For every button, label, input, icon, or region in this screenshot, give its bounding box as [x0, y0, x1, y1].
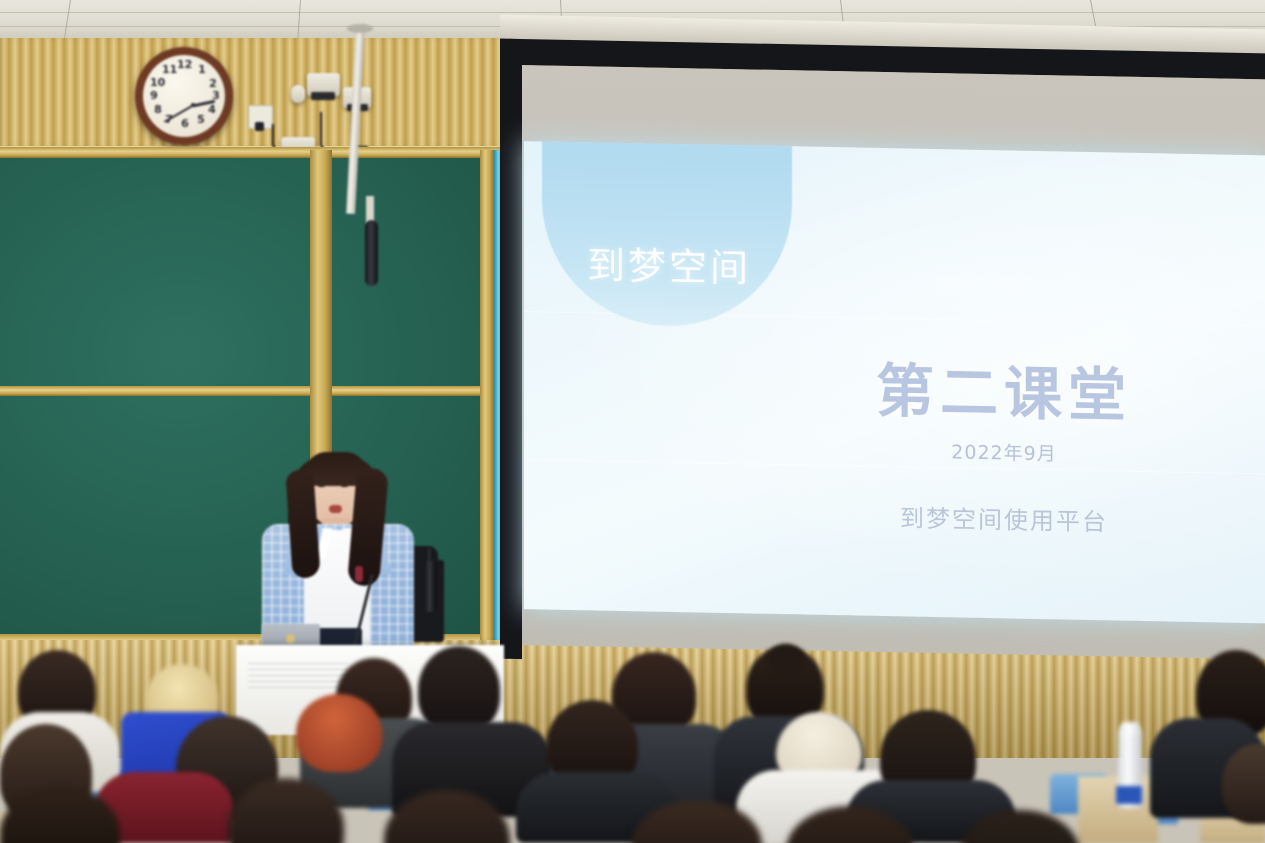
- water-bottle-cap: [1120, 722, 1140, 736]
- audience-hair-bun: [768, 644, 804, 674]
- clock-numeral: 10: [150, 76, 164, 90]
- clock-numeral: 5: [194, 113, 208, 127]
- presenter-mouth: [329, 505, 342, 513]
- clock-numeral: 12: [177, 58, 191, 72]
- chalkboard-frame-mid: [0, 386, 516, 396]
- boom-pole-collar: [347, 24, 373, 33]
- clock-numeral: 9: [147, 89, 161, 103]
- slide-watermark: 到梦空间: [924, 267, 1044, 301]
- wall-clock: 12 1 2 3 4 5 6 7 8 9 10 11: [135, 47, 233, 145]
- screen-left-border: [500, 39, 522, 659]
- brand-logo-text: 到梦空间: [562, 234, 776, 293]
- chalkboard-frame-top: [0, 147, 516, 158]
- laptop-emblem: [286, 634, 295, 644]
- cable: [320, 112, 340, 152]
- wall-bracket: [291, 85, 305, 103]
- audience-head-red: [296, 694, 382, 772]
- wall-socket: [255, 122, 264, 131]
- clock-center-pin: [191, 103, 195, 107]
- desk-microphone-head: [355, 566, 363, 582]
- projection-screen: 到梦空间 到梦空间 第二课堂 2022年9月 到梦空间使用平台: [500, 15, 1265, 710]
- clock-numeral: 11: [162, 63, 176, 77]
- clock-numeral: 6: [178, 117, 192, 131]
- chalkboard-frame-right: [480, 150, 494, 650]
- audience-head: [418, 646, 500, 734]
- slide-title: 第二课堂: [764, 342, 1244, 435]
- boom-microphone: [365, 220, 378, 286]
- lectern-detail-lines: [248, 663, 348, 693]
- wall-speaker-grille: [311, 92, 335, 100]
- dark-bottle: [424, 560, 436, 612]
- water-bottle-label: [1116, 786, 1142, 804]
- lecture-hall-photo: 12 1 2 3 4 5 6 7 8 9 10 11: [0, 0, 1265, 843]
- dark-bottle-neck: [427, 548, 432, 562]
- clock-numeral: 8: [151, 103, 165, 117]
- clock-face: 12 1 2 3 4 5 6 7 8 9 10 11: [143, 55, 225, 137]
- clock-numeral: 1: [195, 63, 209, 77]
- projected-slide: 到梦空间 到梦空间 第二课堂 2022年9月 到梦空间使用平台: [524, 141, 1265, 623]
